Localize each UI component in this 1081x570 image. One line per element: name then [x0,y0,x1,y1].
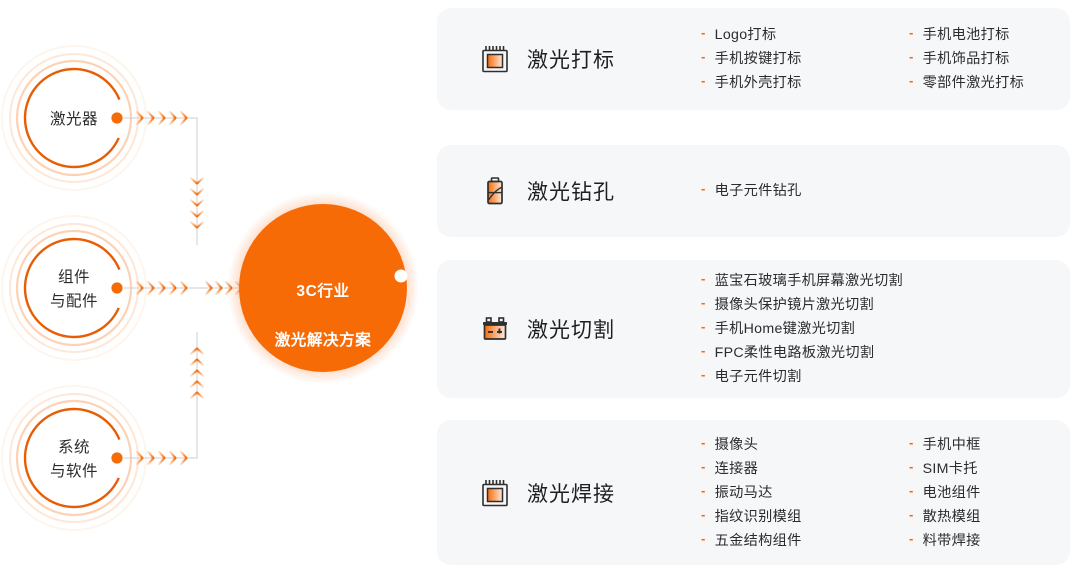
bullet-marker-icon: - [909,527,914,550]
bullet-column: - 手机中框 - SIM卡托 - 电池组件 - 散热模组 [909,433,1081,553]
bullet-column: - 电子元件钻孔 [701,179,1070,203]
bullet-marker-icon: - [701,503,706,526]
bullet-marker-icon: - [701,455,706,478]
list-item: - 零部件激光打标 [909,71,1081,95]
bullet-column: - 蓝宝石玻璃手机屏幕激光切割 - 摄像头保护镜片激光切割 - 手机Home键激… [701,269,1070,389]
list-item: - 五金结构组件 [701,529,909,553]
list-item: - 摄像头 [701,433,909,457]
bullet-marker-icon: - [701,479,706,502]
list-item: - 电池组件 [909,481,1081,505]
bullet-marker-icon: - [909,45,914,68]
application-panels: 激光打标 - Logo打标 - 手机按键打标 - 手机外壳打标 [437,0,1081,570]
list-item-label: 手机Home键激光切割 [715,318,855,341]
bullet-marker-icon: - [701,45,706,68]
hub-circle [227,192,419,384]
list-item-label: 手机中框 [923,434,981,457]
panel-bullets-laser-drilling: - 电子元件钻孔 [677,179,1070,203]
panel-bullets-laser-welding: - 摄像头 - 连接器 - 振动马达 - 指纹识别模组 [677,433,1081,553]
bullet-marker-icon: - [701,291,706,314]
panel-laser-welding[interactable]: 激光焊接 - 摄像头 - 连接器 - 振动马达 [437,420,1070,565]
list-item: - 手机中框 [909,433,1081,457]
list-item-label: Logo打标 [715,24,777,47]
list-item-label: 五金结构组件 [715,530,802,553]
panel-laser-marking[interactable]: 激光打标 - Logo打标 - 手机按键打标 - 手机外壳打标 [437,8,1070,110]
hub-connector-dot [395,270,408,283]
list-item: - 电子元件切割 [701,365,1070,389]
bullet-marker-icon: - [909,479,914,502]
list-item-label: 料带焊接 [923,530,981,553]
node-connector-dot [111,452,122,463]
bullet-marker-icon: - [701,21,706,44]
list-item: - FPC柔性电路板激光切割 [701,341,1070,365]
list-item-label: 电子元件切割 [715,366,802,389]
list-item: - SIM卡托 [909,457,1081,481]
bullet-marker-icon: - [909,455,914,478]
list-item: - Logo打标 [701,23,909,47]
node-connector-dot [111,282,122,293]
list-item: - 振动马达 [701,481,909,505]
list-item: - 手机电池打标 [909,23,1081,47]
list-item: - 电子元件钻孔 [701,179,1070,203]
list-item: - 连接器 [701,457,909,481]
bullet-marker-icon: - [701,315,706,338]
car-battery-icon [467,312,523,346]
panel-bullets-laser-marking: - Logo打标 - 手机按键打标 - 手机外壳打标 - 手机电 [677,23,1081,95]
list-item: - 手机按键打标 [701,47,909,71]
bullet-marker-icon: - [701,363,706,386]
list-item: - 指纹识别模组 [701,505,909,529]
list-item-label: 电池组件 [923,482,981,505]
list-item: - 手机外壳打标 [701,71,909,95]
bullet-column: - Logo打标 - 手机按键打标 - 手机外壳打标 [701,23,909,95]
welding-panel-icon [467,476,523,510]
list-item-label: 连接器 [715,458,758,481]
bullet-marker-icon: - [701,339,706,362]
list-item-label: 零部件激光打标 [923,72,1024,95]
list-item-label: 指纹识别模组 [715,506,802,529]
bullet-marker-icon: - [701,431,706,454]
bullet-column: - 手机电池打标 - 手机饰品打标 - 零部件激光打标 [909,23,1081,95]
panel-title-laser-marking: 激光打标 [527,44,677,74]
list-item-label: SIM卡托 [923,458,978,481]
panel-bullets-laser-cutting: - 蓝宝石玻璃手机屏幕激光切割 - 摄像头保护镜片激光切割 - 手机Home键激… [677,269,1070,389]
panel-laser-cutting[interactable]: 激光切割 - 蓝宝石玻璃手机屏幕激光切割 - 摄像头保护镜片激光切割 - 手机H… [437,260,1070,398]
list-item-label: 手机外壳打标 [715,72,802,95]
list-item: - 料带焊接 [909,529,1081,553]
bullet-marker-icon: - [701,527,706,550]
list-item: - 散热模组 [909,505,1081,529]
panel-title-laser-cutting: 激光切割 [527,314,677,344]
bullet-marker-icon: - [701,177,706,200]
diagram-canvas [0,0,430,570]
panel-title-laser-welding: 激光焊接 [527,478,677,508]
list-item: - 手机饰品打标 [909,47,1081,71]
bullet-marker-icon: - [909,21,914,44]
infographic-root: 激光器 组件 与配件 系统 与软件 3C行业 激光解决方案 [0,0,1081,570]
bullet-marker-icon: - [701,69,706,92]
bullet-marker-icon: - [909,69,914,92]
node-connector-dot [111,112,122,123]
list-item: - 蓝宝石玻璃手机屏幕激光切割 [701,269,1070,293]
list-item-label: 散热模组 [923,506,981,529]
bullet-column: - 摄像头 - 连接器 - 振动马达 - 指纹识别模组 [701,433,909,553]
list-item-label: 手机电池打标 [923,24,1010,47]
list-item-label: 蓝宝石玻璃手机屏幕激光切割 [715,270,903,293]
list-item: - 手机Home键激光切割 [701,317,1070,341]
bullet-marker-icon: - [909,431,914,454]
list-item-label: 电子元件钻孔 [715,180,802,203]
solution-diagram: 激光器 组件 与配件 系统 与软件 3C行业 激光解决方案 [0,0,430,570]
bullet-marker-icon: - [701,267,706,290]
list-item-label: 振动马达 [715,482,773,505]
panel-laser-drilling[interactable]: 激光钻孔 - 电子元件钻孔 [437,145,1070,237]
list-item-label: 摄像头保护镜片激光切割 [715,294,874,317]
list-item-label: 手机饰品打标 [923,48,1010,71]
marking-panel-icon [467,42,523,76]
battery-drill-icon [467,174,523,208]
list-item-label: FPC柔性电路板激光切割 [715,342,875,365]
list-item-label: 手机按键打标 [715,48,802,71]
list-item-label: 摄像头 [715,434,758,457]
bullet-marker-icon: - [909,503,914,526]
panel-title-laser-drilling: 激光钻孔 [527,176,677,206]
list-item: - 摄像头保护镜片激光切割 [701,293,1070,317]
